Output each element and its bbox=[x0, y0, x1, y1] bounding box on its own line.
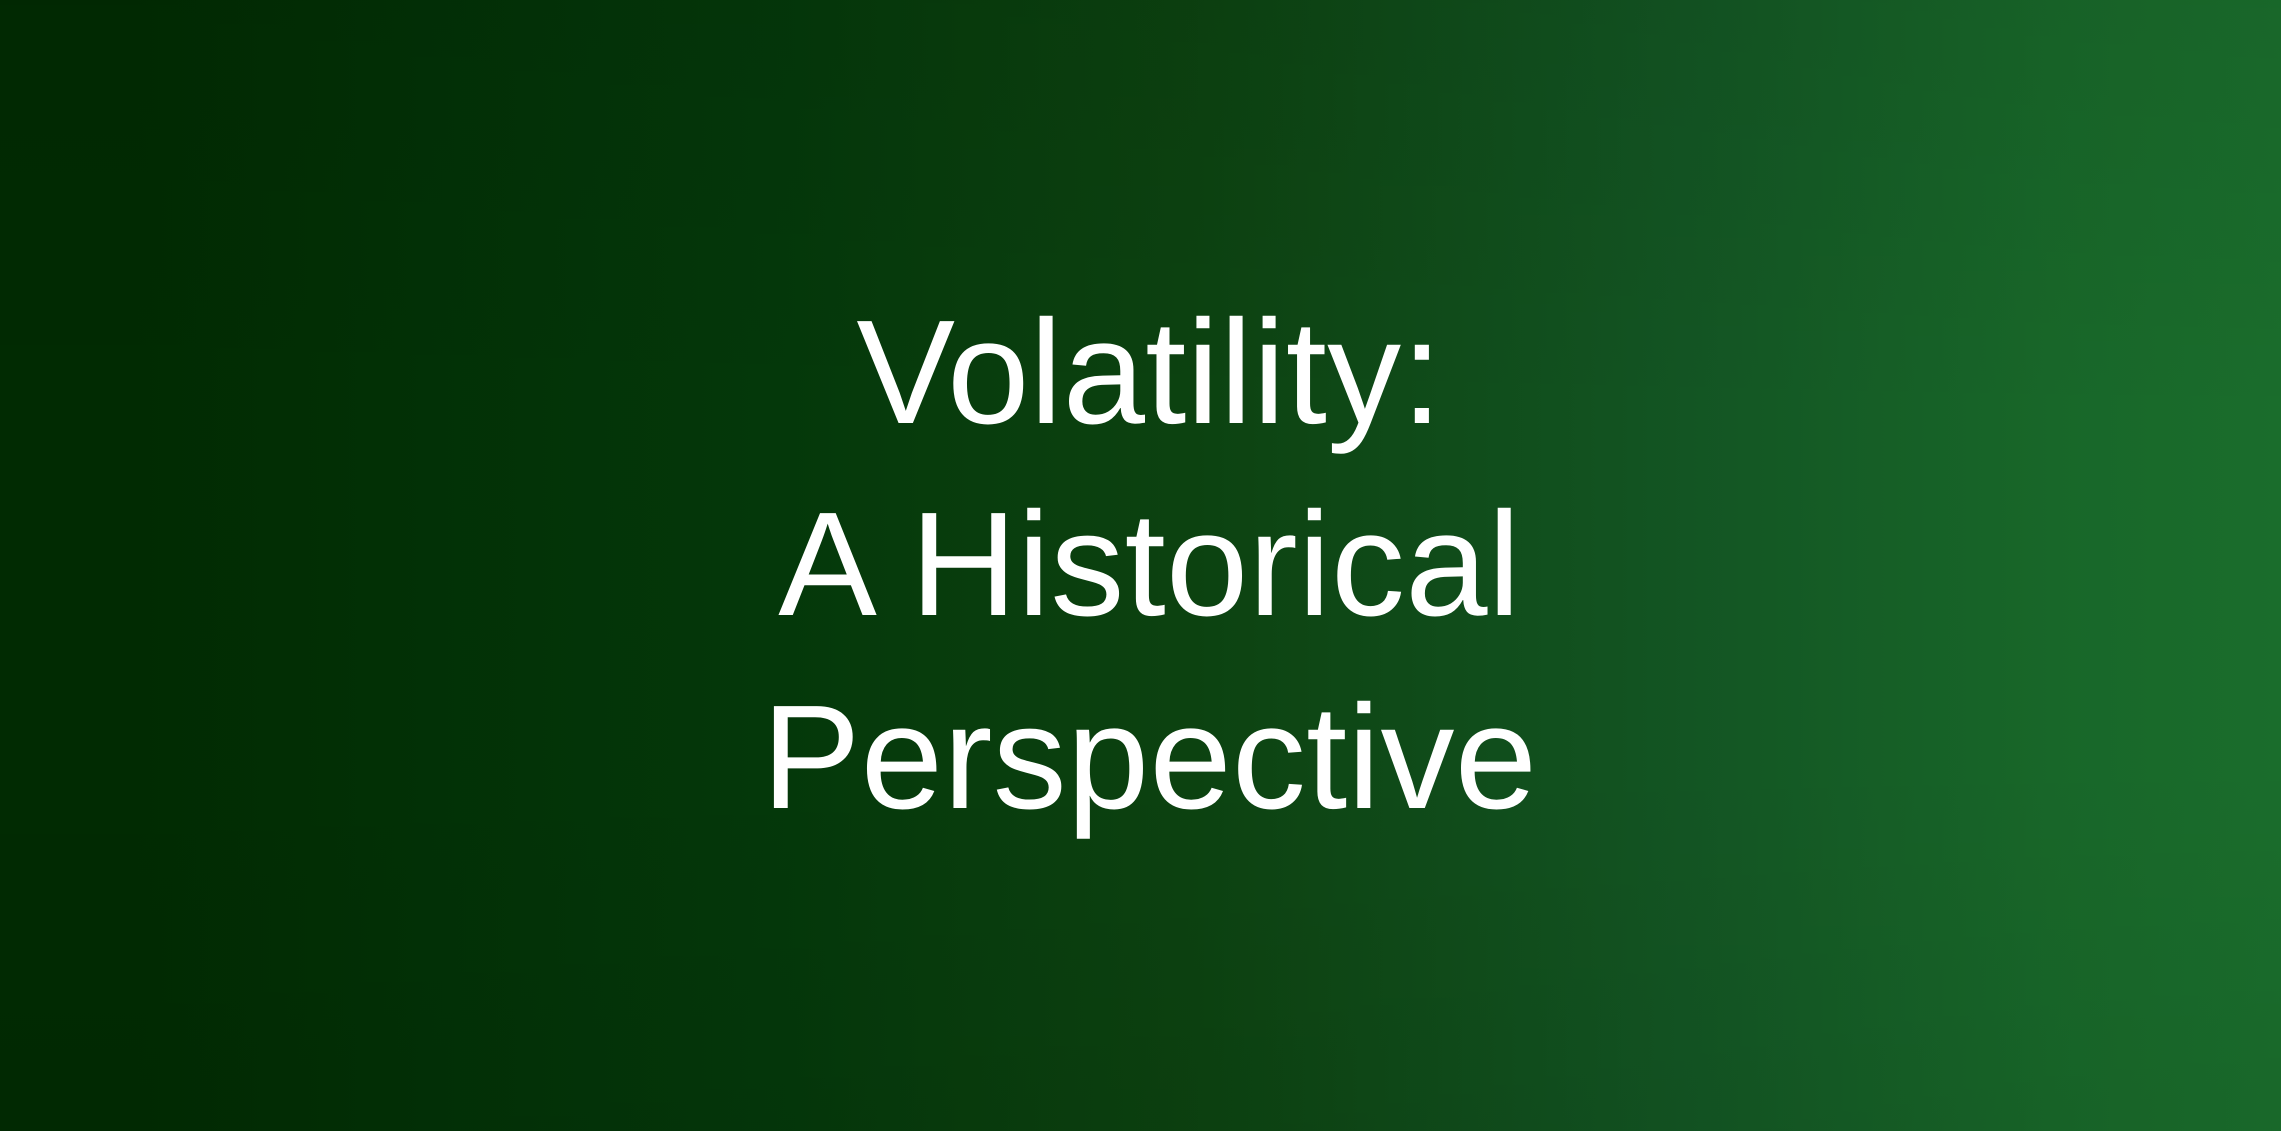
page-title-line-1: Volatility: bbox=[18, 277, 2281, 469]
title-card: Volatility: A Historical Perspective bbox=[0, 0, 2281, 1131]
page-title-line-2: A Historical bbox=[18, 469, 2281, 661]
page-title-line-3: Perspective bbox=[18, 662, 2281, 854]
page-title: Volatility: A Historical Perspective bbox=[0, 277, 2281, 854]
